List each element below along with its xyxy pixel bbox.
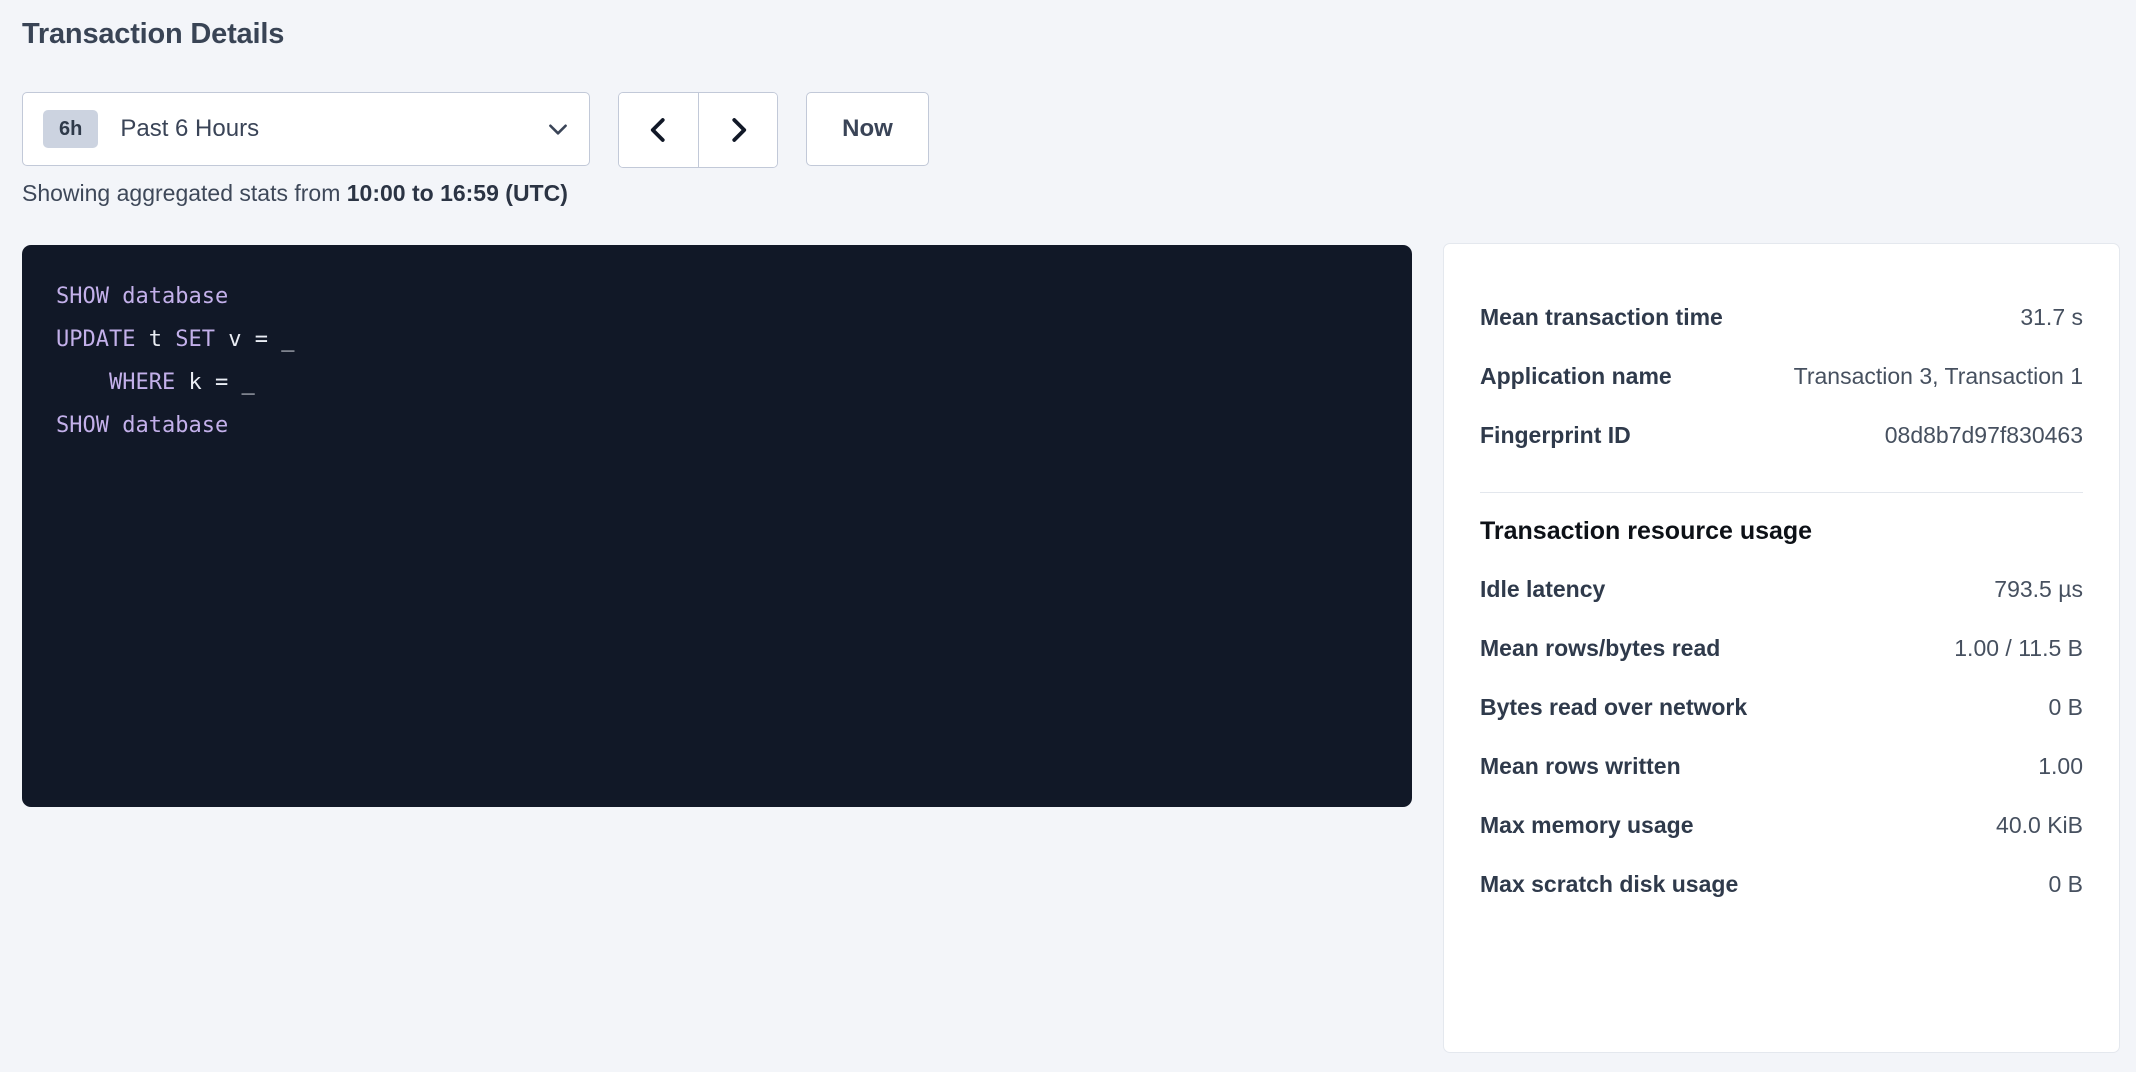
transaction-details-list: Mean transaction time31.7 sApplication n…	[1480, 288, 2083, 465]
section-divider	[1480, 492, 2083, 493]
sql-identifier	[109, 284, 122, 309]
stat-label: Fingerprint ID	[1480, 422, 1631, 449]
sql-identifier	[109, 413, 122, 438]
stat-row: Bytes read over network0 B	[1480, 678, 2083, 737]
stat-label: Application name	[1480, 363, 1672, 390]
chevron-left-icon	[644, 115, 674, 145]
stat-row: Mean rows written1.00	[1480, 737, 2083, 796]
sql-statement-block[interactable]: SHOW database UPDATE t SET v = _ WHERE k…	[22, 245, 1412, 807]
time-nav-group	[618, 92, 778, 168]
time-range-badge: 6h	[43, 110, 98, 148]
stat-row: Max memory usage40.0 KiB	[1480, 796, 2083, 855]
sql-statement-text: SHOW database UPDATE t SET v = _ WHERE k…	[22, 275, 1412, 447]
chevron-down-icon	[545, 116, 571, 142]
sql-identifier: t	[135, 327, 175, 352]
stat-label: Max memory usage	[1480, 812, 1693, 839]
stat-row: Mean rows/bytes read1.00 / 11.5 B	[1480, 619, 2083, 678]
sql-keyword: database	[122, 284, 228, 309]
stat-value: 1.00	[2038, 753, 2083, 780]
sql-identifier	[56, 370, 109, 395]
chevron-right-icon	[723, 115, 753, 145]
sql-identifier: v = _	[215, 327, 294, 352]
stat-label: Bytes read over network	[1480, 694, 1747, 721]
stat-value: 40.0 KiB	[1996, 812, 2083, 839]
stat-value: 08d8b7d97f830463	[1885, 422, 2083, 449]
stat-label: Mean transaction time	[1480, 304, 1723, 331]
transaction-stats-card: Mean transaction time31.7 sApplication n…	[1443, 243, 2120, 1053]
aggregation-range-prefix: Showing aggregated stats from	[22, 180, 347, 206]
stat-row: Idle latency793.5 µs	[1480, 560, 2083, 619]
stat-value: 0 B	[2048, 694, 2083, 721]
stat-value: 1.00 / 11.5 B	[1954, 635, 2083, 662]
transaction-details-page: Transaction Details 6h Past 6 Hours	[0, 0, 2136, 1072]
stat-row: Max scratch disk usage0 B	[1480, 855, 2083, 914]
stat-row: Fingerprint ID08d8b7d97f830463	[1480, 406, 2083, 465]
stat-row: Mean transaction time31.7 s	[1480, 288, 2083, 347]
stat-value: 31.7 s	[2020, 304, 2083, 331]
aggregation-range-text: Showing aggregated stats from 10:00 to 1…	[22, 180, 568, 207]
stat-value: Transaction 3, Transaction 1	[1794, 363, 2083, 390]
sql-keyword: SHOW	[56, 413, 109, 438]
next-period-button[interactable]	[698, 93, 777, 167]
stat-value: 793.5 µs	[1994, 576, 2083, 603]
stat-value: 0 B	[2048, 871, 2083, 898]
sql-keyword: SHOW	[56, 284, 109, 309]
stat-label: Mean rows/bytes read	[1480, 635, 1720, 662]
stat-label: Idle latency	[1480, 576, 1605, 603]
stat-row: Application nameTransaction 3, Transacti…	[1480, 347, 2083, 406]
sql-keyword: WHERE	[109, 370, 175, 395]
time-range-controls: 6h Past 6 Hours	[22, 92, 929, 168]
stat-label: Max scratch disk usage	[1480, 871, 1738, 898]
aggregation-range-value: 10:00 to 16:59 (UTC)	[347, 180, 568, 206]
sql-keyword: database	[122, 413, 228, 438]
resource-usage-heading: Transaction resource usage	[1480, 517, 2083, 546]
sql-identifier: k = _	[175, 370, 254, 395]
time-range-select[interactable]: 6h Past 6 Hours	[22, 92, 590, 166]
sql-keyword: SET	[175, 327, 215, 352]
stat-label: Mean rows written	[1480, 753, 1681, 780]
page-title: Transaction Details	[22, 18, 284, 51]
resource-usage-list: Idle latency793.5 µsMean rows/bytes read…	[1480, 560, 2083, 914]
previous-period-button[interactable]	[619, 93, 698, 167]
sql-keyword: UPDATE	[56, 327, 135, 352]
time-range-selected-label: Past 6 Hours	[120, 115, 545, 143]
now-button[interactable]: Now	[806, 92, 929, 166]
